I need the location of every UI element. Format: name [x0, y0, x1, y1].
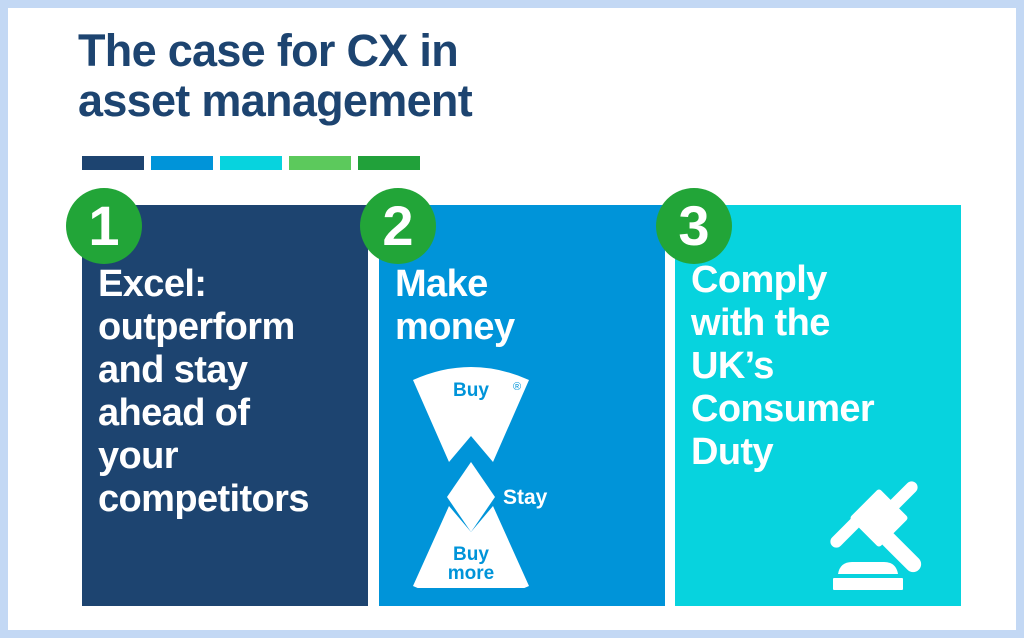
panel-2-number: 2 — [382, 198, 413, 254]
panel-group: Excel: outperform and stay ahead of your… — [8, 8, 1016, 630]
panel-2-number-badge: 2 — [360, 188, 436, 264]
funnel-label-stay: Stay — [503, 486, 548, 509]
infographic-canvas: The case for CX in asset management Exce… — [0, 0, 1024, 638]
panel-3-heading: Comply with the UK’s Consumer Duty — [691, 259, 953, 474]
panel-3-number-badge: 3 — [656, 188, 732, 264]
gavel-icon — [822, 474, 947, 594]
panel-excel: Excel: outperform and stay ahead of your… — [82, 205, 368, 606]
buy-stay-buy-more-funnel-icon: Buy ® Stay Buy more — [401, 358, 649, 588]
panel-2-heading: Make money — [395, 263, 657, 349]
funnel-label-buy: Buy — [453, 380, 489, 401]
panel-1-heading: Excel: outperform and stay ahead of your… — [98, 263, 360, 521]
panel-1-number-badge: 1 — [66, 188, 142, 264]
funnel-label-buy-more-1: Buy — [453, 544, 489, 565]
funnel-label-buy-more-2: more — [448, 563, 494, 584]
panel-make-money: Make money Buy ® Stay Buy more — [379, 205, 665, 606]
panel-3-number: 3 — [678, 198, 709, 254]
panel-consumer-duty: Comply with the UK’s Consumer Duty — [675, 205, 961, 606]
registered-trademark-icon: ® — [513, 381, 521, 393]
panel-1-number: 1 — [88, 198, 119, 254]
